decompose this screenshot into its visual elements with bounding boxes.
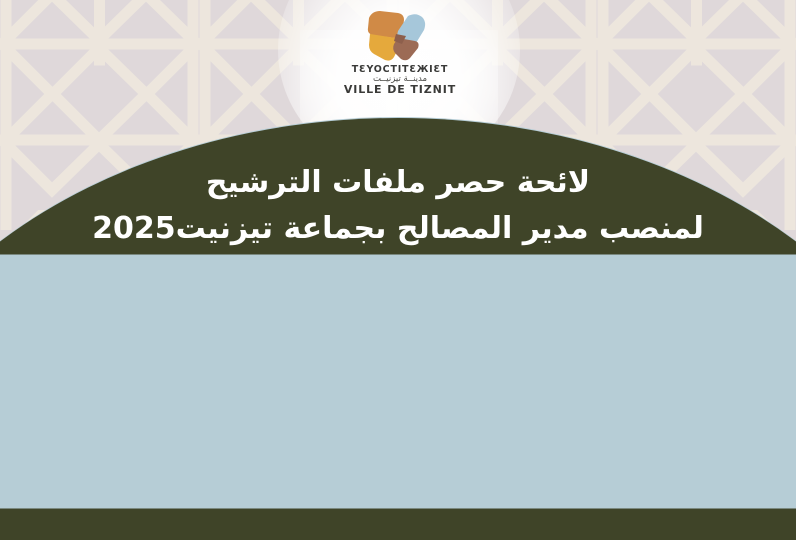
poster-root: TƐYOCTITƐЖIƐT مدينــة تيزنيــت VILLE DE … <box>0 0 796 540</box>
tiznit-emblem-icon <box>336 4 464 64</box>
logo-latin-text: VILLE DE TIZNIT <box>336 84 464 95</box>
logo-wordmark: TƐYOCTITƐЖIƐT مدينــة تيزنيــت VILLE DE … <box>336 65 464 96</box>
page-title: لائحة حصر ملفات الترشيح لمنصب مدير المصا… <box>0 160 796 252</box>
logo-arabic-text: مدينــة تيزنيــت <box>336 75 464 84</box>
city-logo: TƐYOCTITƐЖIƐT مدينــة تيزنيــت VILLE DE … <box>336 4 464 108</box>
headline-line-1: لائحة حصر ملفات الترشيح <box>0 160 796 206</box>
headline-line-2: لمنصب مدير المصالح بجماعة تيزنيت2025 <box>0 206 796 252</box>
